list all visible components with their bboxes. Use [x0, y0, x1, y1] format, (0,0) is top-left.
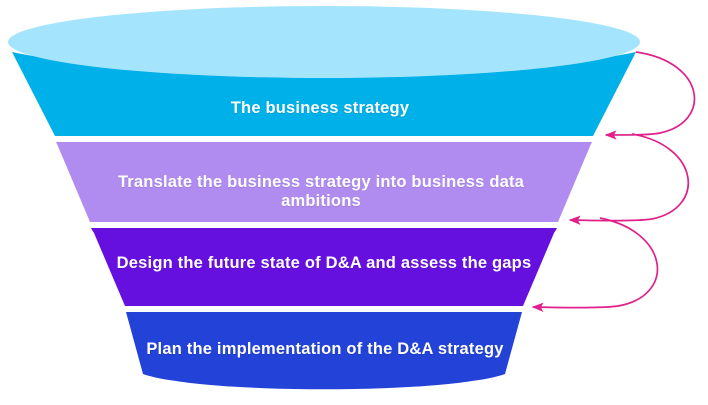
funnel-stage-3[interactable] [91, 228, 557, 306]
funnel-stage-4[interactable] [126, 312, 522, 389]
funnel-stage-2[interactable] [56, 142, 592, 222]
funnel-opening [8, 6, 640, 78]
funnel-stage-2-shape [56, 142, 592, 222]
funnel-diagram: The business strategy Translate the busi… [0, 0, 708, 405]
funnel-stage-3-shape [91, 228, 557, 306]
funnel-graphic [0, 0, 708, 405]
funnel-stage-4-shape [126, 312, 522, 389]
funnel-opening-ellipse [8, 6, 640, 78]
